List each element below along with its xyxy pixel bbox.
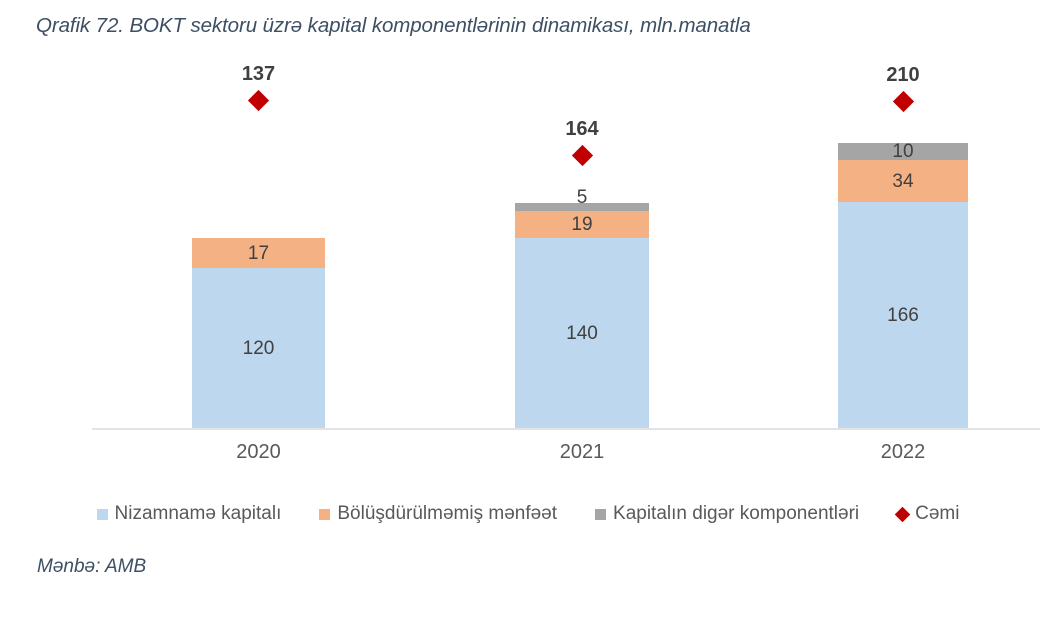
legend-label: Kapitalın digər komponentləri xyxy=(613,503,859,525)
stacked-bar-2022[interactable]: 10 34 166 xyxy=(838,143,968,428)
bar-segment-other-components[interactable]: 5 xyxy=(515,203,649,211)
bar-segment-charter-capital[interactable]: 166 xyxy=(838,202,968,428)
legend-swatch-icon xyxy=(97,509,108,520)
total-value-label: 137 xyxy=(192,64,325,84)
total-diamond-icon xyxy=(248,90,269,111)
category-label-2021: 2021 xyxy=(515,441,649,464)
legend-item-total[interactable]: Cəmi xyxy=(897,503,959,525)
total-diamond-icon xyxy=(892,91,913,112)
bar-segment-retained-earnings[interactable]: 34 xyxy=(838,160,968,202)
legend-item-other-components[interactable]: Kapitalın digər komponentləri xyxy=(595,503,859,525)
chart-plot-area: 137 17 120 2020 164 5 19 xyxy=(0,0,1056,470)
bar-segment-retained-earnings[interactable]: 19 xyxy=(515,211,649,238)
legend-label: Bölüşdürülməmiş mənfəət xyxy=(337,503,557,525)
category-label-2022: 2022 xyxy=(838,441,968,464)
bar-segment-label: 17 xyxy=(248,244,269,263)
category-label-2020: 2020 xyxy=(192,441,325,464)
legend-swatch-icon xyxy=(595,509,606,520)
total-marker-2022: 210 xyxy=(838,65,968,114)
total-value-label: 210 xyxy=(838,65,968,85)
stacked-bar-2020[interactable]: 17 120 xyxy=(192,238,325,428)
legend-item-charter-capital[interactable]: Nizamnamə kapitalı xyxy=(97,503,282,525)
bar-segment-label: 140 xyxy=(566,324,598,343)
legend-swatch-icon xyxy=(319,509,330,520)
stacked-bar-2021[interactable]: 5 19 140 xyxy=(515,203,649,428)
bar-segment-other-components[interactable]: 10 xyxy=(838,143,968,160)
bar-segment-label: 166 xyxy=(887,306,919,325)
bar-segment-charter-capital[interactable]: 120 xyxy=(192,268,325,428)
bar-segment-charter-capital[interactable]: 140 xyxy=(515,238,649,428)
legend-diamond-icon xyxy=(895,506,911,522)
bar-segment-retained-earnings[interactable]: 17 xyxy=(192,238,325,268)
bar-group-2021: 164 5 19 140 2021 xyxy=(515,0,649,470)
total-value-label: 164 xyxy=(515,119,649,139)
bar-group-2020: 137 17 120 2020 xyxy=(192,0,325,470)
bar-segment-label: 34 xyxy=(892,172,913,191)
chart-legend: Nizamnamə kapitalı Bölüşdürülməmiş mənfə… xyxy=(0,503,1056,525)
total-diamond-icon xyxy=(571,145,592,166)
total-marker-2021: 164 xyxy=(515,119,649,168)
legend-label: Cəmi xyxy=(915,503,959,525)
bar-segment-label: 5 xyxy=(577,188,588,207)
total-marker-2020: 137 xyxy=(192,64,325,113)
legend-item-retained-earnings[interactable]: Bölüşdürülməmiş mənfəət xyxy=(319,503,557,525)
source-note: Mənbə: AMB xyxy=(37,556,146,578)
bar-segment-label: 19 xyxy=(571,215,592,234)
legend-label: Nizamnamə kapitalı xyxy=(115,503,282,525)
bar-group-2022: 210 10 34 166 2022 xyxy=(838,0,968,470)
bar-segment-label: 120 xyxy=(243,339,275,358)
bar-segment-label: 10 xyxy=(892,142,913,161)
